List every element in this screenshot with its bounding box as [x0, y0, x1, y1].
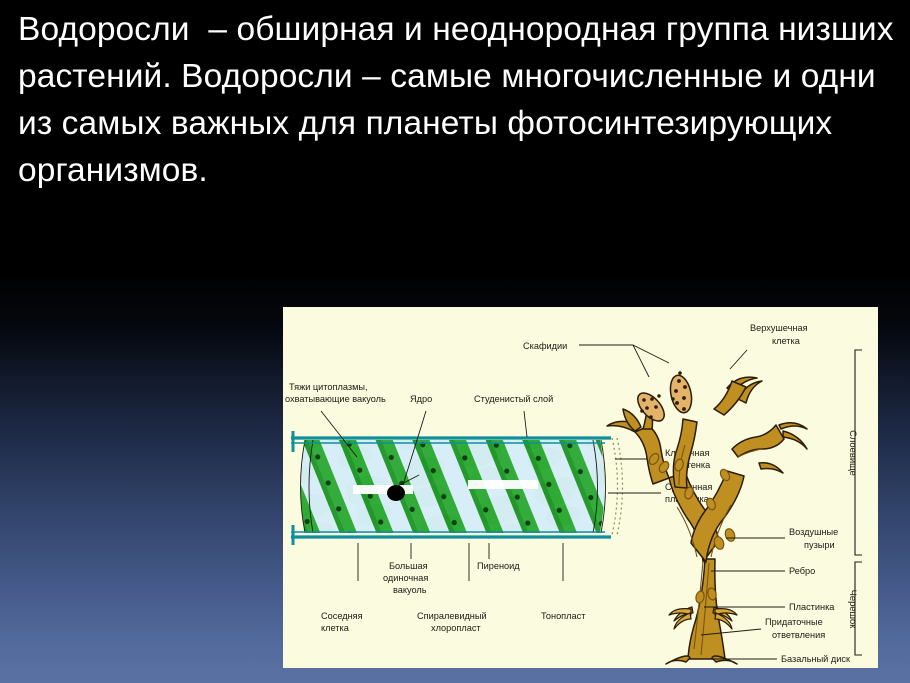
right-tip-e [759, 463, 783, 473]
label-air-bladders-l1: Воздушные [789, 527, 838, 537]
basal-disc-left [666, 656, 690, 664]
label-adventitious-l1: Придаточные [765, 617, 823, 627]
label-neighbour-cell-l1: Соседняя [321, 611, 363, 621]
right-tip-a [779, 423, 807, 429]
label-blade: Пластинка [789, 602, 835, 612]
label-tonoplast: Тонопласт [541, 611, 586, 621]
label-rib: Ребро [789, 566, 815, 576]
label-scaphidia: Скафидии [523, 341, 567, 351]
page-title: Водоросли – обширная и неоднородная груп… [18, 6, 898, 194]
bracket-thallus-label: Слоевище [848, 430, 859, 476]
label-neighbour-cell-l2: клетка [321, 623, 350, 633]
leader-apical-cell [730, 350, 747, 369]
leader-gelatinous [524, 411, 527, 437]
spirogyra-cell-figure [291, 431, 623, 545]
label-nucleus: Ядро [410, 394, 432, 404]
gelatinous-layer-arc [612, 438, 618, 535]
label-spiral-chloroplast-l2: хлоропласт [431, 623, 481, 633]
label-large-vacuole-l2: одиночная [383, 573, 428, 583]
algae-structure-diagram: Тяжи цитоплазмы, охватывающие вакуоль Яд… [283, 307, 878, 668]
label-large-vacuole-l3: вакуоль [393, 585, 427, 595]
label-apical-cell-l1: Верхушечная [750, 323, 808, 333]
nucleus-blob [387, 485, 405, 501]
cell-interior [301, 435, 606, 540]
leader-scaphidia-b [633, 345, 649, 377]
label-cytoplasm-strands-l1: Тяжи цитоплазмы, [289, 382, 368, 392]
label-apical-cell-l2: клетка [772, 336, 801, 346]
label-pyrenoid: Пиреноид [477, 561, 520, 571]
bracket-stipe-label: Черешок [848, 590, 859, 630]
presentation-slide: Водоросли – обширная и неоднородная груп… [0, 0, 910, 683]
right-tip-b [783, 431, 807, 449]
label-spiral-chloroplast-l1: Спиралевидный [417, 611, 487, 621]
right-upper-1 [732, 425, 784, 457]
label-air-bladders-l2: пузыри [804, 540, 835, 550]
label-cytoplasm-strands-l2: охватывающие вакуоль [285, 394, 386, 404]
leader-scaphidia-a [633, 345, 669, 363]
scaphidium-right [667, 373, 694, 414]
label-large-vacuole-l1: Большая [389, 561, 428, 571]
label-basal-disc: Базальный диск [781, 654, 851, 664]
label-gelatinous-layer: Студенистый слой [474, 394, 553, 404]
label-adventitious-l2: ответвления [772, 630, 825, 640]
gelatinous-layer-arc2 [617, 438, 623, 535]
